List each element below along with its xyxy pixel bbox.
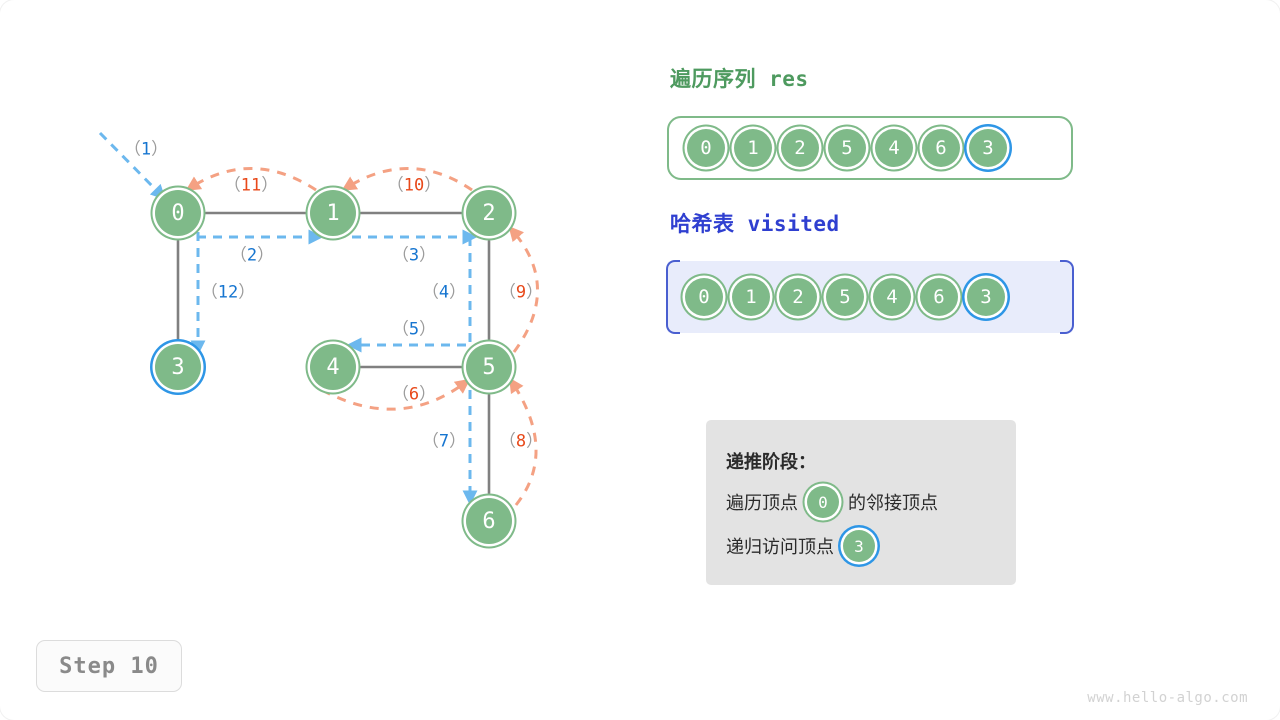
step-label-9: （9） (499, 278, 543, 303)
graph-node-2[interactable]: 2 (466, 190, 512, 236)
explanation-node-3: 3 (843, 530, 875, 562)
visited-cell-highlighted[interactable]: 3 (967, 278, 1005, 316)
visited-panel-title: 哈希表 visited (670, 208, 840, 238)
explanation-line-2: 递归访问顶点 3 (726, 524, 1016, 568)
graph-node-6[interactable]: 6 (466, 498, 512, 544)
res-panel-title: 遍历序列 res (670, 63, 809, 93)
explanation-heading: 递推阶段： (726, 442, 1016, 480)
visited-cell-label: 3 (980, 286, 991, 308)
visited-cell-label: 2 (792, 286, 803, 308)
visited-cell[interactable]: 1 (732, 278, 770, 316)
graph-node-label: 2 (482, 201, 495, 226)
res-cell-label: 6 (935, 137, 946, 159)
graph-svg (0, 0, 620, 620)
visited-cell-label: 1 (745, 286, 756, 308)
res-cell[interactable]: 6 (922, 129, 960, 167)
step-label-1: （1） (124, 135, 168, 160)
res-cell[interactable]: 2 (781, 129, 819, 167)
res-cell[interactable]: 0 (687, 129, 725, 167)
graph-diagram: 0 1 2 3 4 5 6 （1） （2） （3） （4） （5） （6） （7… (0, 0, 620, 620)
res-cell-label: 3 (982, 137, 993, 159)
graph-node-0[interactable]: 0 (155, 190, 201, 236)
explanation-line-1-suffix: 的邻接顶点 (848, 489, 938, 515)
res-cell[interactable]: 1 (734, 129, 772, 167)
graph-node-label: 0 (171, 201, 184, 226)
res-cell-label: 4 (888, 137, 899, 159)
explanation-box: 递推阶段： 遍历顶点 0 的邻接顶点 递归访问顶点 3 (706, 420, 1016, 585)
visited-cell-label: 6 (933, 286, 944, 308)
step-label-4: （4） (422, 278, 466, 303)
visited-cell[interactable]: 6 (920, 278, 958, 316)
step-label-5: （5） (392, 315, 436, 340)
res-cell-label: 5 (841, 137, 852, 159)
visited-set-container: 0 1 2 5 4 6 3 (667, 261, 1073, 333)
graph-node-3[interactable]: 3 (155, 344, 201, 390)
graph-node-label: 5 (482, 355, 495, 380)
res-cell-label: 1 (747, 137, 758, 159)
res-cell[interactable]: 4 (875, 129, 913, 167)
res-cell-highlighted[interactable]: 3 (969, 129, 1007, 167)
step-label-6: （6） (392, 380, 436, 405)
graph-node-label: 3 (171, 355, 184, 380)
illustration-canvas: 0 1 2 3 4 5 6 （1） （2） （3） （4） （5） （6） （7… (0, 0, 1280, 720)
visited-cell-label: 4 (886, 286, 897, 308)
visited-cells: 0 1 2 5 4 6 3 (667, 261, 1005, 333)
res-cell[interactable]: 5 (828, 129, 866, 167)
visited-cell[interactable]: 4 (873, 278, 911, 316)
graph-node-label: 1 (326, 201, 339, 226)
explanation-line-1-prefix: 遍历顶点 (726, 489, 798, 515)
explanation-line-1: 遍历顶点 0 的邻接顶点 (726, 480, 1016, 524)
res-list-container: 0 1 2 5 4 6 3 (667, 116, 1073, 180)
visited-cell[interactable]: 0 (685, 278, 723, 316)
graph-node-4[interactable]: 4 (310, 344, 356, 390)
res-cells: 0 1 2 5 4 6 3 (669, 118, 1007, 178)
explanation-line-2-prefix: 递归访问顶点 (726, 533, 834, 559)
step-label-2: （2） (230, 241, 274, 266)
graph-node-label: 4 (326, 355, 339, 380)
step-label-12: （12） (201, 278, 255, 303)
visited-cell-label: 0 (698, 286, 709, 308)
visited-cell[interactable]: 5 (826, 278, 864, 316)
explanation-node-label: 3 (854, 537, 864, 556)
visited-cell-label: 5 (839, 286, 850, 308)
res-cell-label: 0 (700, 137, 711, 159)
explanation-node-label: 0 (818, 493, 828, 512)
step-label-3: （3） (392, 241, 436, 266)
graph-node-1[interactable]: 1 (310, 190, 356, 236)
step-label-10: （10） (387, 171, 441, 196)
watermark: www.hello-algo.com (1087, 690, 1248, 706)
step-label-7: （7） (422, 427, 466, 452)
graph-node-label: 6 (482, 509, 495, 534)
graph-node-5[interactable]: 5 (466, 344, 512, 390)
step-label-8: （8） (499, 427, 543, 452)
visited-cell[interactable]: 2 (779, 278, 817, 316)
step-badge: Step 10 (36, 640, 182, 692)
res-cell-label: 2 (794, 137, 805, 159)
step-label-11: （11） (224, 171, 278, 196)
explanation-node-0: 0 (807, 486, 839, 518)
